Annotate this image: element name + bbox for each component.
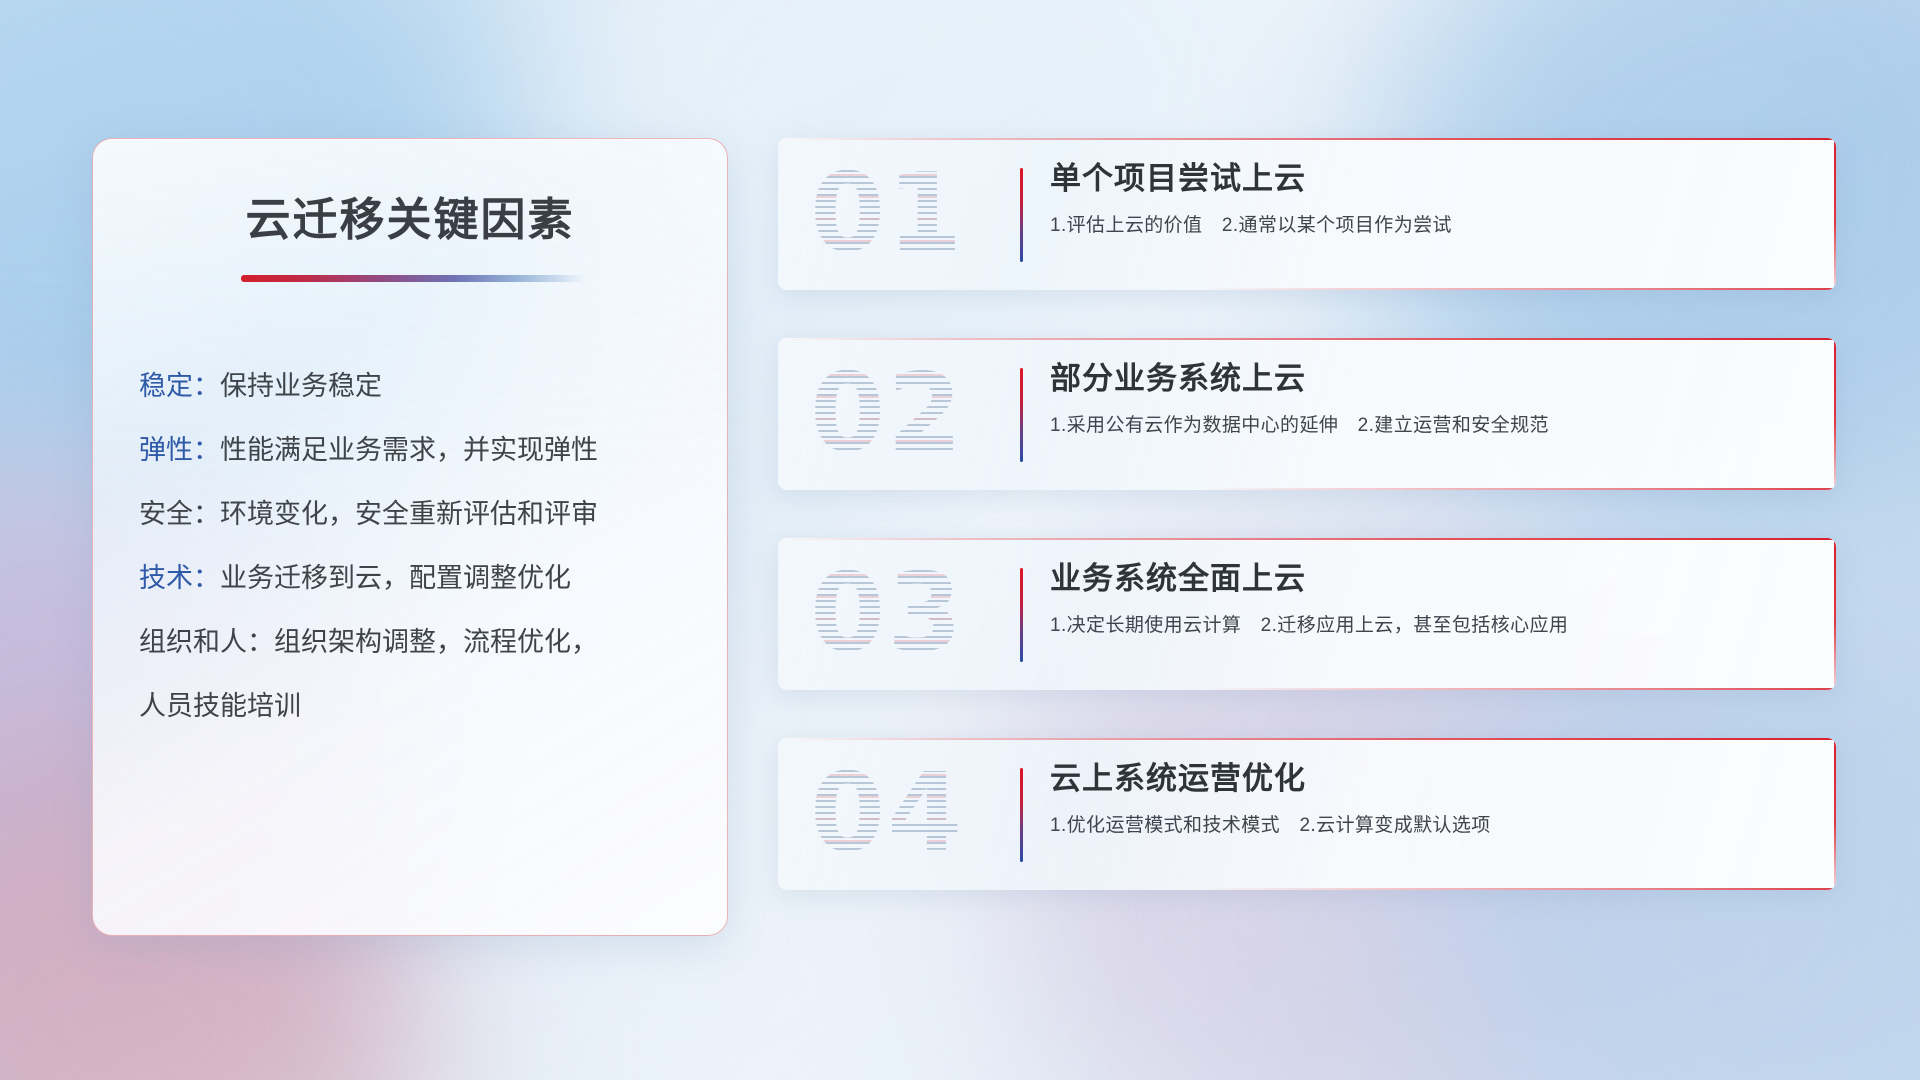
card-subtitle: 1.采用公有云作为数据中心的延伸 2.建立运营和安全规范 bbox=[1050, 414, 1808, 439]
card-subtitle: 1.决定长期使用云计算 2.迁移应用上云，甚至包括核心应用 bbox=[1050, 614, 1808, 639]
card-top-edge bbox=[778, 338, 1836, 340]
stage-card[interactable]: 01 01 单个项目尝试上云 1.评估上云的价值 2.通常以某个项目作为尝试 bbox=[778, 138, 1836, 290]
card-right-edge bbox=[1834, 138, 1836, 290]
cloud-migration-stages: 01 01 单个项目尝试上云 1.评估上云的价值 2.通常以某个项目作为尝试 0… bbox=[778, 138, 1836, 890]
card-text-block: 业务系统全面上云 1.决定长期使用云计算 2.迁移应用上云，甚至包括核心应用 bbox=[1050, 560, 1808, 639]
list-item: 稳定：保持业务稳定 bbox=[139, 373, 697, 400]
stage-number-text: 04 bbox=[810, 752, 1000, 876]
factor-text: 人员技能培训 bbox=[139, 691, 301, 721]
card-title: 单个项目尝试上云 bbox=[1050, 160, 1808, 197]
stage-number-text: 02 bbox=[810, 352, 1000, 476]
card-bottom-edge bbox=[1201, 688, 1836, 690]
card-title: 业务系统全面上云 bbox=[1050, 560, 1808, 597]
card-text-block: 云上系统运营优化 1.优化运营模式和技术模式 2.云计算变成默认选项 bbox=[1050, 760, 1808, 839]
card-bottom-edge bbox=[1201, 288, 1836, 290]
stage-number-watermark: 02 02 bbox=[810, 352, 1000, 476]
factor-label: 稳定： bbox=[139, 371, 220, 401]
card-title: 部分业务系统上云 bbox=[1050, 360, 1808, 397]
stage-number-watermark: 01 01 bbox=[810, 152, 1000, 276]
list-item: 人员技能培训 bbox=[139, 693, 697, 720]
card-top-edge bbox=[778, 538, 1836, 540]
page-title: 云迁移关键因素 bbox=[93, 183, 727, 248]
card-right-edge bbox=[1834, 538, 1836, 690]
list-item: 技术：业务迁移到云，配置调整优化 bbox=[139, 565, 697, 592]
factor-text: 性能满足业务需求，并实现弹性 bbox=[220, 435, 598, 465]
list-item: 弹性：性能满足业务需求，并实现弹性 bbox=[139, 437, 697, 464]
card-accent-bar bbox=[1020, 768, 1023, 862]
factor-text: 环境变化，安全重新评估和评审 bbox=[220, 499, 598, 529]
stage-number-watermark: 03 03 bbox=[810, 552, 1000, 676]
factor-text: 业务迁移到云，配置调整优化 bbox=[220, 563, 571, 593]
factor-label: 安全： bbox=[139, 499, 220, 529]
stage-number-text: 01 bbox=[810, 152, 1000, 276]
card-subtitle: 1.优化运营模式和技术模式 2.云计算变成默认选项 bbox=[1050, 814, 1808, 839]
title-underline-gradient bbox=[241, 275, 586, 282]
card-accent-bar bbox=[1020, 568, 1023, 662]
card-subtitle: 1.评估上云的价值 2.通常以某个项目作为尝试 bbox=[1050, 214, 1808, 239]
card-accent-bar bbox=[1020, 168, 1023, 262]
factor-text: 组织架构调整，流程优化， bbox=[274, 627, 598, 657]
stage-card[interactable]: 03 03 业务系统全面上云 1.决定长期使用云计算 2.迁移应用上云，甚至包括… bbox=[778, 538, 1836, 690]
factor-label: 组织和人： bbox=[139, 627, 274, 657]
list-item: 组织和人：组织架构调整，流程优化， bbox=[139, 629, 697, 656]
card-right-edge bbox=[1834, 338, 1836, 490]
card-text-block: 部分业务系统上云 1.采用公有云作为数据中心的延伸 2.建立运营和安全规范 bbox=[1050, 360, 1808, 439]
card-accent-bar bbox=[1020, 368, 1023, 462]
card-bottom-edge bbox=[1201, 888, 1836, 890]
stage-number-text: 03 bbox=[810, 552, 1000, 676]
stage-number-watermark: 04 04 bbox=[810, 752, 1000, 876]
stage-card[interactable]: 04 04 云上系统运营优化 1.优化运营模式和技术模式 2.云计算变成默认选项 bbox=[778, 738, 1836, 890]
card-right-edge bbox=[1834, 738, 1836, 890]
list-item: 安全：环境变化，安全重新评估和评审 bbox=[139, 501, 697, 528]
card-top-edge bbox=[778, 138, 1836, 140]
factor-text: 保持业务稳定 bbox=[220, 371, 382, 401]
card-top-edge bbox=[778, 738, 1836, 740]
card-bottom-edge bbox=[1201, 488, 1836, 490]
factor-label: 技术： bbox=[139, 563, 220, 593]
factor-label: 弹性： bbox=[139, 435, 220, 465]
stage-card[interactable]: 02 02 部分业务系统上云 1.采用公有云作为数据中心的延伸 2.建立运营和安… bbox=[778, 338, 1836, 490]
key-factors-panel: 云迁移关键因素 稳定：保持业务稳定 弹性：性能满足业务需求，并实现弹性 安全：环… bbox=[92, 138, 728, 936]
key-factors-list: 稳定：保持业务稳定 弹性：性能满足业务需求，并实现弹性 安全：环境变化，安全重新… bbox=[139, 373, 697, 757]
card-title: 云上系统运营优化 bbox=[1050, 760, 1808, 797]
card-text-block: 单个项目尝试上云 1.评估上云的价值 2.通常以某个项目作为尝试 bbox=[1050, 160, 1808, 239]
